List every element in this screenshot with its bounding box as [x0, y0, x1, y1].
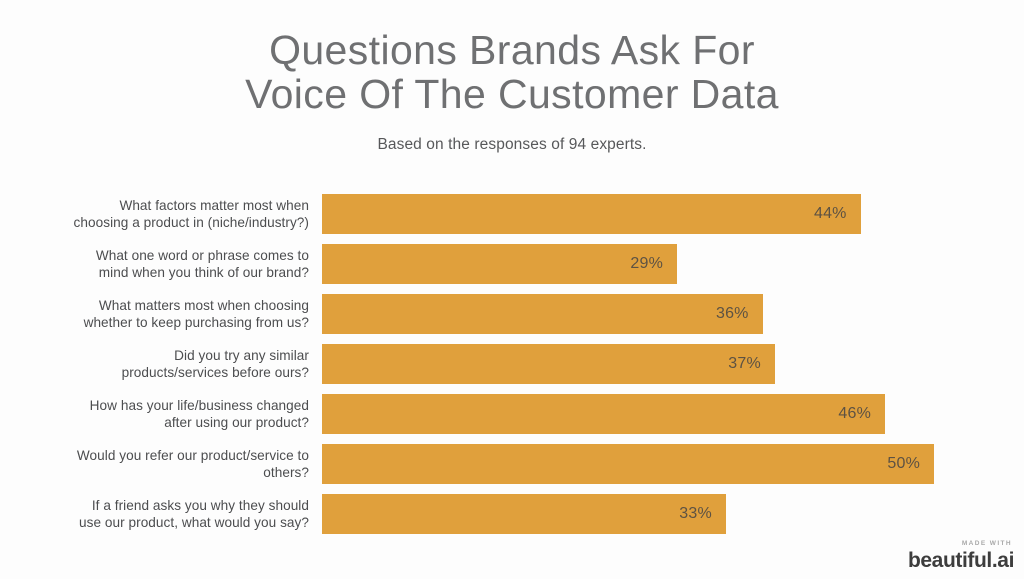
- bar-row: Would you refer our product/service to o…: [0, 444, 1024, 484]
- beautiful-ai-wordmark: beautiful.ai: [908, 550, 1014, 571]
- bar-value-label: 29%: [630, 255, 677, 273]
- bar[interactable]: 50%: [322, 444, 934, 484]
- bar-value-label: 46%: [838, 405, 885, 423]
- bar-value-label: 44%: [814, 205, 861, 223]
- bar-track: 33%: [322, 494, 1024, 534]
- bar-row: What factors matter most when choosing a…: [0, 194, 1024, 234]
- bar-track: 29%: [322, 244, 1024, 284]
- bar-category-label: What matters most when choosing whether …: [0, 297, 322, 331]
- page-subtitle: Based on the responses of 94 experts.: [0, 135, 1024, 155]
- bar-row: Did you try any similar products/service…: [0, 344, 1024, 384]
- page-title: Questions Brands Ask For Voice Of The Cu…: [0, 28, 1024, 116]
- bar[interactable]: 37%: [322, 344, 775, 384]
- bar-row: What one word or phrase comes to mind wh…: [0, 244, 1024, 284]
- bar[interactable]: 29%: [322, 244, 677, 284]
- bar-category-label: If a friend asks you why they should use…: [0, 497, 322, 531]
- bar-track: 50%: [322, 444, 1024, 484]
- beautiful-ai-logo: MADE WITH beautiful.ai: [908, 541, 1014, 572]
- bar-value-label: 50%: [887, 455, 934, 473]
- bar-row: How has your life/business changed after…: [0, 394, 1024, 434]
- bar-value-label: 36%: [716, 305, 763, 323]
- title-block: Questions Brands Ask For Voice Of The Cu…: [0, 28, 1024, 155]
- bar-category-label: What one word or phrase comes to mind wh…: [0, 247, 322, 281]
- bar[interactable]: 36%: [322, 294, 763, 334]
- bar-category-label: How has your life/business changed after…: [0, 397, 322, 431]
- made-with-label: MADE WITH: [908, 541, 1012, 548]
- bar-value-label: 33%: [679, 505, 726, 523]
- bar-chart: What factors matter most when choosing a…: [0, 190, 1024, 540]
- bar-track: 36%: [322, 294, 1024, 334]
- bar-category-label: What factors matter most when choosing a…: [0, 197, 322, 231]
- bar-track: 46%: [322, 394, 1024, 434]
- bar-track: 44%: [322, 194, 1024, 234]
- bar-row: What matters most when choosing whether …: [0, 294, 1024, 334]
- bar-track: 37%: [322, 344, 1024, 384]
- bar-value-label: 37%: [728, 355, 775, 373]
- bar[interactable]: 46%: [322, 394, 885, 434]
- slide-canvas: Questions Brands Ask For Voice Of The Cu…: [0, 0, 1024, 579]
- bar[interactable]: 33%: [322, 494, 726, 534]
- bar-row: If a friend asks you why they should use…: [0, 494, 1024, 534]
- bar-category-label: Did you try any similar products/service…: [0, 347, 322, 381]
- bar[interactable]: 44%: [322, 194, 861, 234]
- bar-category-label: Would you refer our product/service to o…: [0, 447, 322, 481]
